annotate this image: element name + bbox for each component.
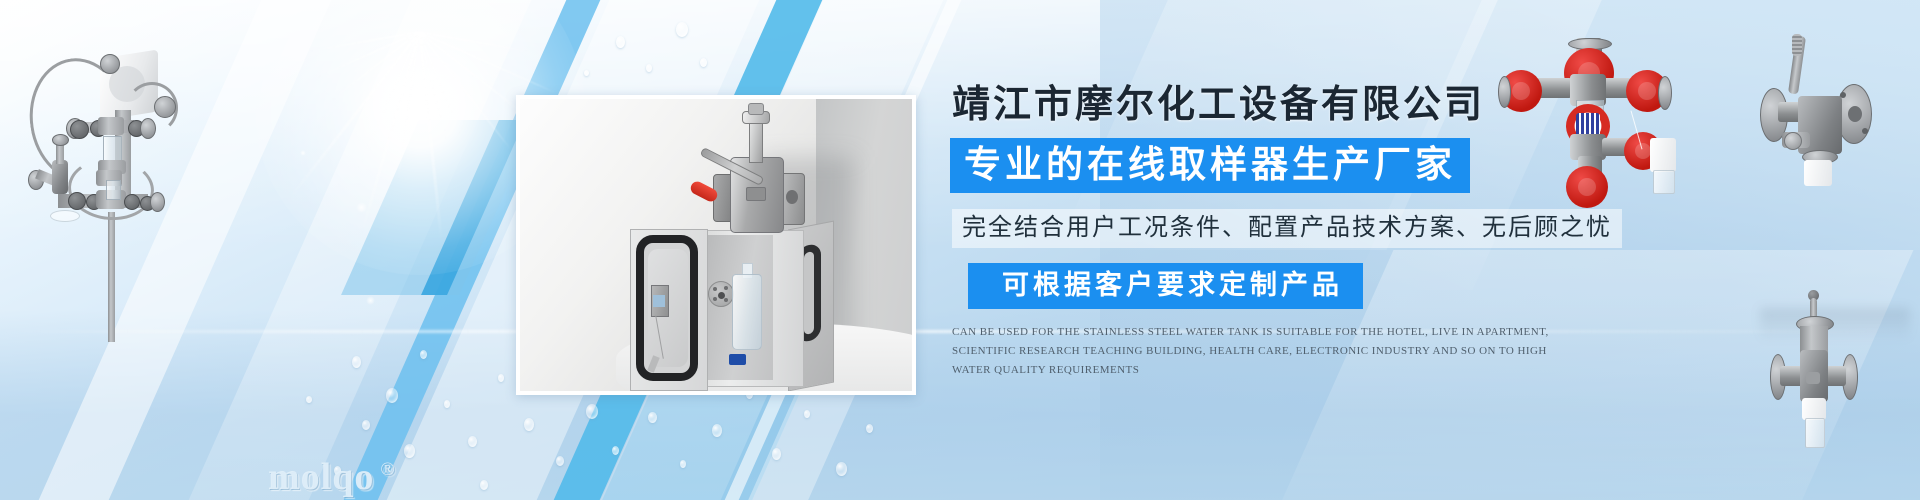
registered-trademark-icon: ® bbox=[380, 459, 395, 480]
company-name: 靖江市摩尔化工设备有限公司 bbox=[952, 86, 1710, 124]
flanged-sampling-valve-image bbox=[1760, 288, 1910, 468]
brand-logo-text: molqo bbox=[268, 456, 374, 498]
tagline-primary: 专业的在线取样器生产厂家 bbox=[950, 138, 1470, 193]
sampling-cabinet-product-photo bbox=[516, 95, 916, 395]
description-text: CAN BE USED FOR THE STAINLESS STEEL WATE… bbox=[952, 323, 1552, 380]
flanged-lever-valve-image bbox=[1752, 28, 1912, 208]
banner-copy: 靖江市摩尔化工设备有限公司 专业的在线取样器生产厂家 完全结合用户工况条件、配置… bbox=[950, 86, 1710, 380]
lens-flare-dot bbox=[300, 150, 306, 156]
lens-flare-dot bbox=[366, 296, 375, 305]
lens-flare-dot bbox=[356, 202, 367, 213]
tagline-sub: 完全结合用户工况条件、配置产品技术方案、无后顾之忧 bbox=[952, 209, 1622, 248]
tagline-custom: 可根据客户要求定制产品 bbox=[968, 263, 1363, 309]
brand-logo: molqo® bbox=[268, 455, 396, 499]
promo-banner: 靖江市摩尔化工设备有限公司 专业的在线取样器生产厂家 完全结合用户工况条件、配置… bbox=[0, 0, 1920, 500]
online-sampler-assembly-image bbox=[8, 22, 208, 342]
